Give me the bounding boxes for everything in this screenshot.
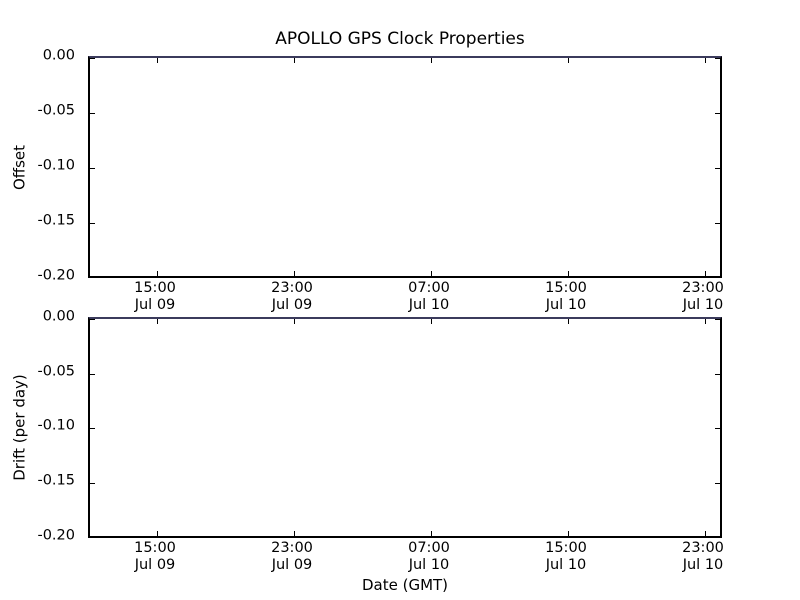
ytick-label-drift-1: -0.05 bbox=[37, 365, 82, 380]
ylabel-offset: Offset bbox=[12, 88, 29, 248]
ytick-label-drift-2: -0.10 bbox=[37, 419, 82, 434]
ytick-right-offset-0 bbox=[715, 58, 720, 59]
xtick-offset-0 bbox=[157, 271, 158, 276]
ytick-right-offset-3 bbox=[715, 223, 720, 224]
ytick-drift-0 bbox=[90, 319, 95, 320]
xtick-time-offset-3: 15:00 bbox=[545, 280, 587, 297]
xtick-date-offset-0: Jul 09 bbox=[134, 297, 176, 314]
ytick-offset-3 bbox=[90, 223, 95, 224]
ytick-label-drift-4: -0.20 bbox=[37, 529, 82, 544]
xtick-labels-drift: 15:00 Jul 09 23:00 Jul 09 07:00 Jul 10 1… bbox=[88, 540, 722, 580]
ytick-right-offset-4 bbox=[715, 277, 720, 278]
xtick-drift-3 bbox=[568, 531, 569, 536]
xtick-top-drift-4 bbox=[705, 319, 706, 324]
ytick-offset-4 bbox=[90, 277, 95, 278]
xtick-date-drift-1: Jul 09 bbox=[271, 557, 313, 574]
xtick-time-offset-0: 15:00 bbox=[134, 280, 176, 297]
xtick-date-drift-3: Jul 10 bbox=[545, 557, 587, 574]
ytick-right-offset-1 bbox=[715, 113, 720, 114]
ytick-label-offset-2: -0.10 bbox=[37, 159, 82, 174]
xtick-time-offset-1: 23:00 bbox=[271, 280, 313, 297]
xtick-top-offset-1 bbox=[294, 58, 295, 63]
xtick-date-offset-1: Jul 09 bbox=[271, 297, 313, 314]
xtick-time-drift-2: 07:00 bbox=[408, 540, 450, 557]
xtick-date-offset-4: Jul 10 bbox=[682, 297, 724, 314]
xtick-top-offset-3 bbox=[568, 58, 569, 63]
xtick-date-offset-3: Jul 10 bbox=[545, 297, 587, 314]
xtick-date-drift-0: Jul 09 bbox=[134, 557, 176, 574]
xtick-drift-1 bbox=[294, 531, 295, 536]
ytick-right-drift-0 bbox=[715, 319, 720, 320]
ylabel-drift: Drift (per day) bbox=[12, 348, 29, 508]
xtick-offset-4 bbox=[705, 271, 706, 276]
xtick-top-drift-2 bbox=[431, 319, 432, 324]
xtick-time-drift-1: 23:00 bbox=[271, 540, 313, 557]
xtick-drift-2 bbox=[431, 531, 432, 536]
xtick-labels-offset: 15:00 Jul 09 23:00 Jul 09 07:00 Jul 10 1… bbox=[88, 280, 722, 320]
xtick-time-offset-2: 07:00 bbox=[408, 280, 450, 297]
xtick-time-drift-4: 23:00 bbox=[682, 540, 724, 557]
xtick-top-offset-0 bbox=[157, 58, 158, 63]
figure-canvas: APOLLO GPS Clock Properties 0.00 -0.05 -… bbox=[0, 0, 800, 600]
ytick-right-offset-2 bbox=[715, 168, 720, 169]
ytick-label-offset-4: -0.20 bbox=[37, 269, 82, 284]
xtick-top-drift-1 bbox=[294, 319, 295, 324]
xtick-offset-3 bbox=[568, 271, 569, 276]
ytick-label-offset-1: -0.05 bbox=[37, 104, 82, 119]
xtick-top-drift-3 bbox=[568, 319, 569, 324]
ytick-right-drift-1 bbox=[715, 374, 720, 375]
figure-title: APOLLO GPS Clock Properties bbox=[0, 29, 800, 49]
ytick-drift-4 bbox=[90, 537, 95, 538]
xtick-top-drift-0 bbox=[157, 319, 158, 324]
ytick-label-offset-0: 0.00 bbox=[43, 49, 82, 64]
ytick-offset-2 bbox=[90, 168, 95, 169]
xlabel-date-gmt: Date (GMT) bbox=[88, 576, 722, 594]
xtick-time-offset-4: 23:00 bbox=[682, 280, 724, 297]
xtick-offset-1 bbox=[294, 271, 295, 276]
ytick-drift-2 bbox=[90, 428, 95, 429]
xtick-offset-2 bbox=[431, 271, 432, 276]
ytick-offset-1 bbox=[90, 113, 95, 114]
ytick-right-drift-3 bbox=[715, 483, 720, 484]
ytick-label-drift-3: -0.15 bbox=[37, 474, 82, 489]
xtick-date-drift-2: Jul 10 bbox=[408, 557, 450, 574]
ytick-label-drift-0: 0.00 bbox=[43, 310, 82, 325]
ytick-label-offset-3: -0.15 bbox=[37, 214, 82, 229]
xtick-time-drift-3: 15:00 bbox=[545, 540, 587, 557]
ytick-right-drift-2 bbox=[715, 428, 720, 429]
xtick-drift-4 bbox=[705, 531, 706, 536]
plot-area-drift bbox=[90, 319, 720, 536]
axes-offset[interactable] bbox=[88, 56, 722, 278]
axes-drift[interactable] bbox=[88, 317, 722, 538]
xtick-time-drift-0: 15:00 bbox=[134, 540, 176, 557]
xtick-drift-0 bbox=[157, 531, 158, 536]
plot-area-offset bbox=[90, 58, 720, 276]
xtick-date-drift-4: Jul 10 bbox=[682, 557, 724, 574]
ytick-drift-1 bbox=[90, 374, 95, 375]
ytick-offset-0 bbox=[90, 58, 95, 59]
xtick-date-offset-2: Jul 10 bbox=[408, 297, 450, 314]
xtick-top-offset-2 bbox=[431, 58, 432, 63]
ytick-drift-3 bbox=[90, 483, 95, 484]
xtick-top-offset-4 bbox=[705, 58, 706, 63]
ytick-right-drift-4 bbox=[715, 537, 720, 538]
